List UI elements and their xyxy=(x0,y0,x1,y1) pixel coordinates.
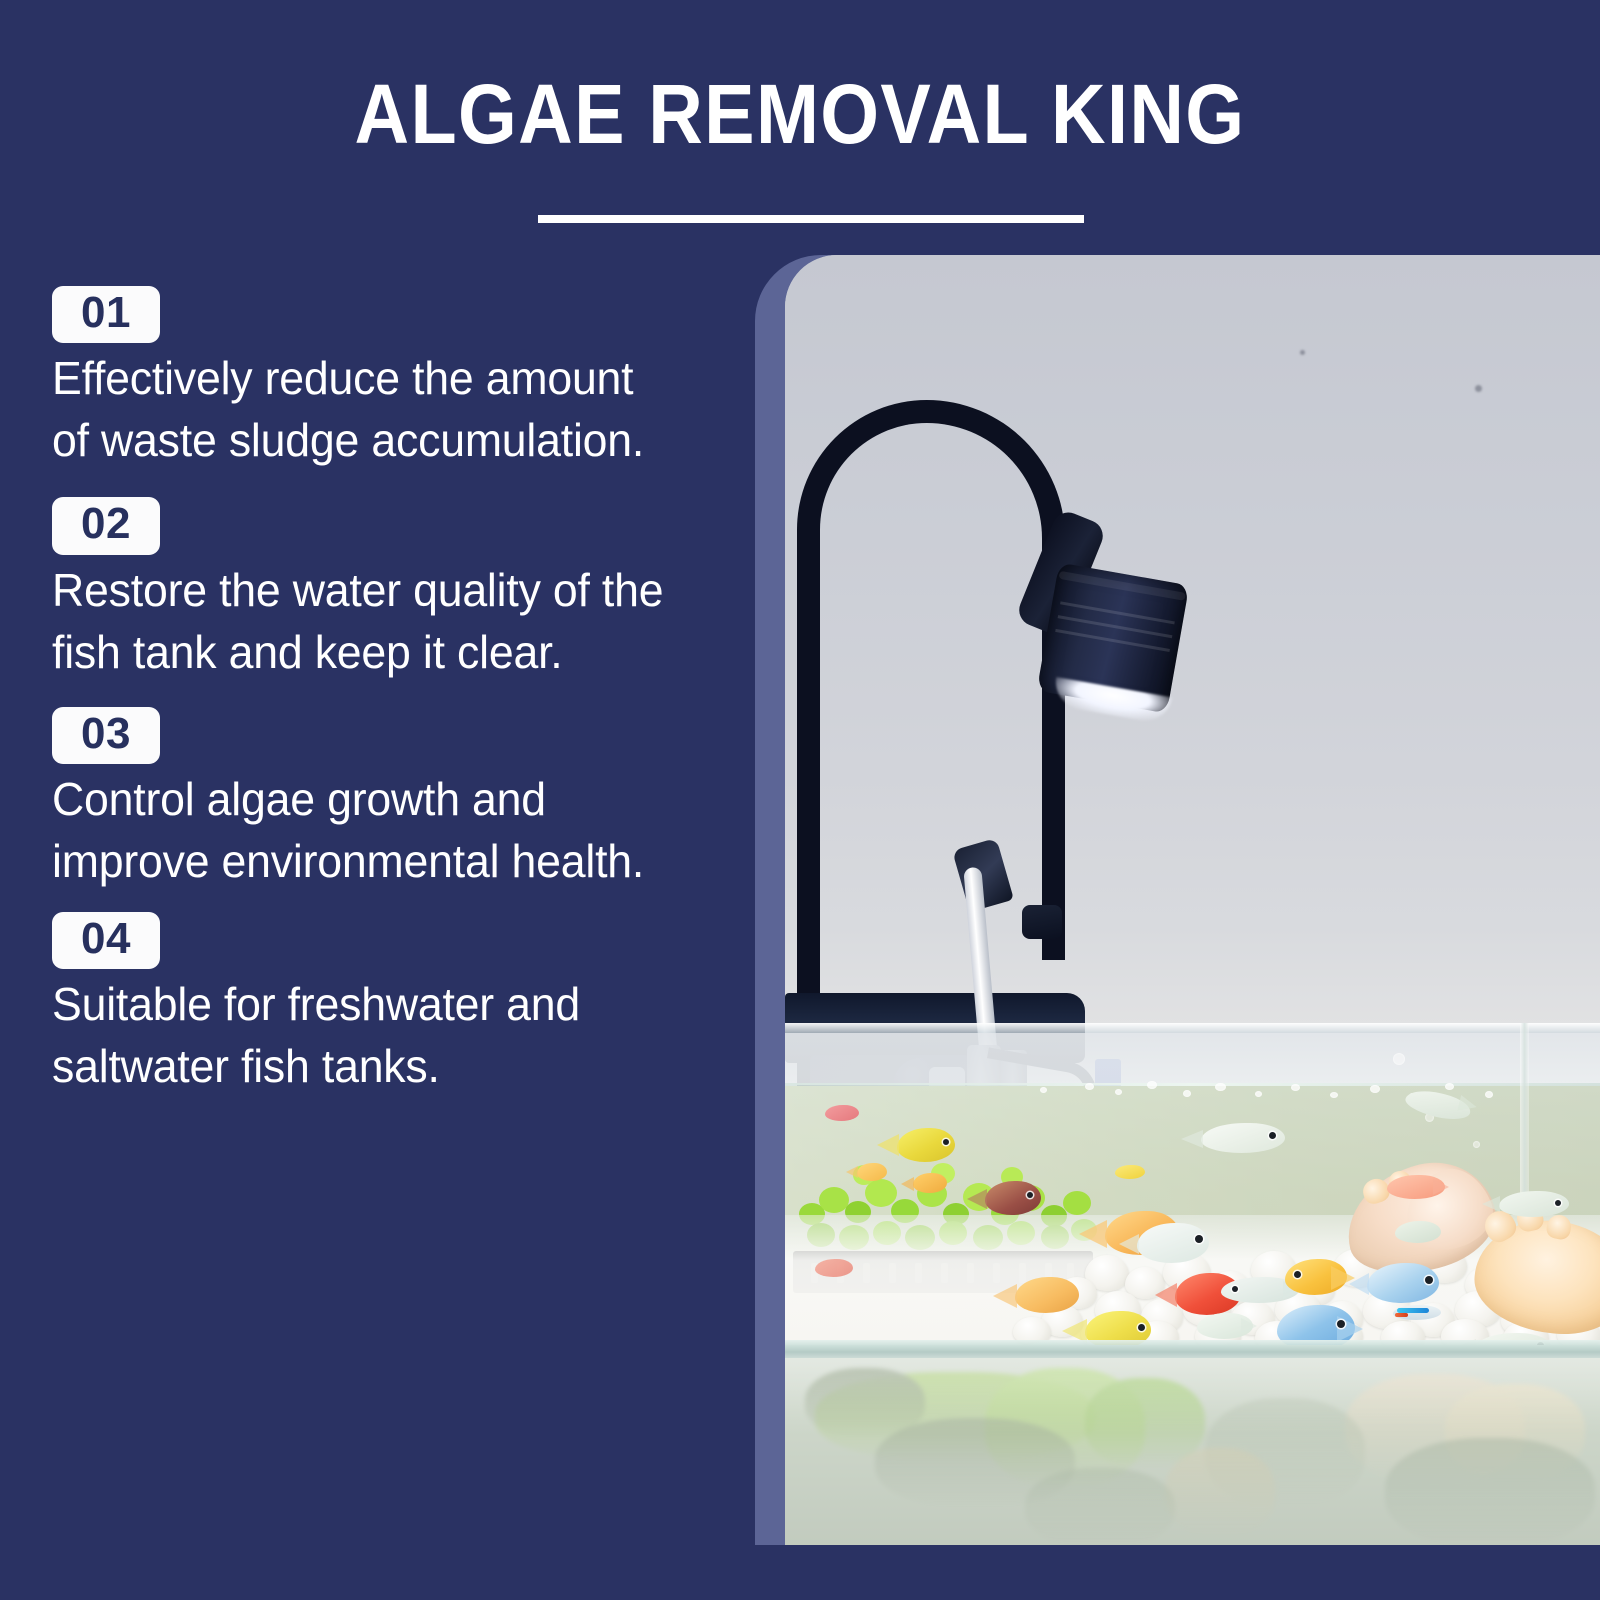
bubble-icon xyxy=(1445,1083,1454,1090)
feature-number-badge-01: 01 xyxy=(52,286,160,343)
feature-item-03: 03 Control algae growth and improve envi… xyxy=(52,707,712,892)
product-photo xyxy=(785,255,1600,1545)
tube-connector-cap xyxy=(1022,905,1062,939)
reflective-table-surface xyxy=(785,1358,1600,1545)
tank-bottom-rim xyxy=(785,1340,1600,1360)
bubble-icon xyxy=(1215,1083,1226,1091)
gooseneck-lamp-arm xyxy=(797,400,1065,960)
feature-item-02: 02 Restore the water quality of the fish… xyxy=(52,497,712,682)
feature-list: 01 Effectively reduce the amount of wast… xyxy=(52,286,712,1120)
backdrop-speck-icon xyxy=(1475,385,1482,392)
poster-header: ALGAE REMOVAL KING xyxy=(0,0,1600,250)
bubble-icon xyxy=(1085,1083,1094,1090)
feature-text-01: Effectively reduce the amount of waste s… xyxy=(52,347,673,471)
bubble-icon xyxy=(1473,1141,1480,1148)
bubble-icon xyxy=(1393,1053,1405,1065)
feature-text-03: Control algae growth and improve environ… xyxy=(52,768,673,892)
glass-fish-tank xyxy=(785,1023,1600,1345)
table-highlight xyxy=(785,1358,1600,1545)
bubble-icon xyxy=(1115,1089,1122,1095)
bubble-icon xyxy=(1183,1090,1191,1097)
feature-number-badge-03: 03 xyxy=(52,707,160,764)
feature-number-badge-04: 04 xyxy=(52,912,160,969)
bubble-icon xyxy=(1040,1087,1047,1093)
bubble-icon xyxy=(1330,1092,1338,1098)
feature-item-04: 04 Suitable for freshwater and saltwater… xyxy=(52,912,712,1097)
feature-text-02: Restore the water quality of the fish ta… xyxy=(52,559,673,683)
feature-text-04: Suitable for freshwater and saltwater fi… xyxy=(52,973,673,1097)
bubble-icon xyxy=(1147,1081,1157,1089)
feature-item-01: 01 Effectively reduce the amount of wast… xyxy=(52,286,712,471)
tank-top-rim xyxy=(785,1023,1600,1033)
tank-air-gap xyxy=(785,1033,1600,1085)
page-title: ALGAE REMOVAL KING xyxy=(80,72,1520,156)
product-photo-frame xyxy=(755,255,1600,1545)
bubble-icon xyxy=(1291,1084,1300,1091)
product-infographic-poster: ALGAE REMOVAL KING 01 Effectively reduce… xyxy=(0,0,1600,1600)
backdrop-speck-icon xyxy=(1300,350,1305,355)
title-divider xyxy=(538,215,1084,223)
bubble-icon xyxy=(1255,1091,1262,1097)
bubble-icon xyxy=(1485,1091,1493,1098)
feature-number-badge-02: 02 xyxy=(52,497,160,554)
bubble-icon xyxy=(1370,1085,1380,1093)
